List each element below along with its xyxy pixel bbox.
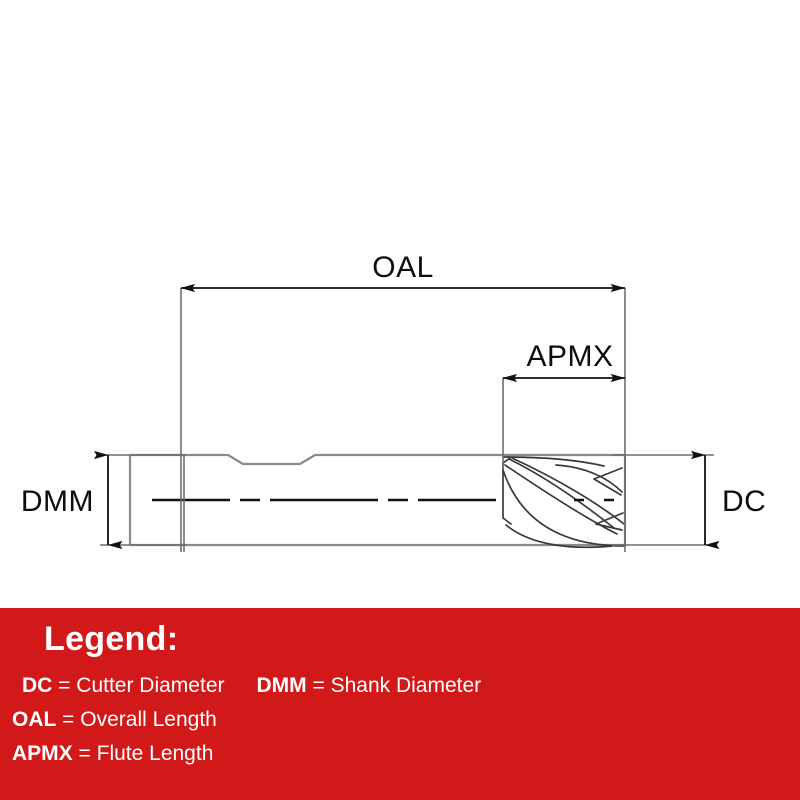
legend-desc-apmx: Flute Length <box>97 742 214 765</box>
dimension-oal: OAL <box>181 251 625 288</box>
legend-desc-dmm: Shank Diameter <box>331 674 482 697</box>
legend-desc-oal: Overall Length <box>80 708 217 731</box>
dimension-label-apmx: APMX <box>526 340 613 373</box>
dimension-dc: DC <box>705 455 766 545</box>
technical-drawing-area: OAL APMX DMM DC <box>0 0 800 608</box>
dimension-label-oal: OAL <box>372 251 434 284</box>
legend-abbr-dmm: DMM <box>257 674 307 697</box>
legend-row: DC = Cutter DiameterDMM = Shank Diameter <box>0 674 800 708</box>
legend-desc-dc: Cutter Diameter <box>76 674 224 697</box>
dimension-label-dmm: DMM <box>21 485 94 518</box>
legend-equals: = <box>307 674 331 697</box>
legend-equals: = <box>56 708 80 731</box>
legend-abbr-oal: OAL <box>12 708 56 731</box>
flute-helix-lines <box>503 457 625 547</box>
legend-title: Legend: <box>44 620 178 659</box>
legend-band: Legend: DC = Cutter DiameterDMM = Shank … <box>0 608 800 800</box>
page-root: OAL APMX DMM DC Legend: DC = Cutte <box>0 0 800 800</box>
legend-equals: = <box>52 674 76 697</box>
end-mill-drawing-svg: OAL APMX DMM DC <box>0 0 800 608</box>
legend-rows: DC = Cutter DiameterDMM = Shank Diameter… <box>0 674 800 776</box>
extension-lines <box>100 288 714 552</box>
legend-abbr-apmx: APMX <box>12 742 73 765</box>
legend-entry-apmx: APMX = Flute Length <box>12 742 213 766</box>
legend-row: OAL = Overall Length <box>0 708 800 742</box>
legend-entry-dmm: DMM = Shank Diameter <box>257 674 482 698</box>
legend-abbr-dc: DC <box>22 674 52 697</box>
dimension-dmm: DMM <box>21 455 108 545</box>
legend-row: APMX = Flute Length <box>0 742 800 776</box>
legend-entry-oal: OAL = Overall Length <box>12 708 217 732</box>
dimension-label-dc: DC <box>722 485 766 518</box>
dimension-apmx: APMX <box>503 340 625 378</box>
legend-equals: = <box>73 742 97 765</box>
legend-entry-dc: DC = Cutter Diameter <box>22 674 225 698</box>
